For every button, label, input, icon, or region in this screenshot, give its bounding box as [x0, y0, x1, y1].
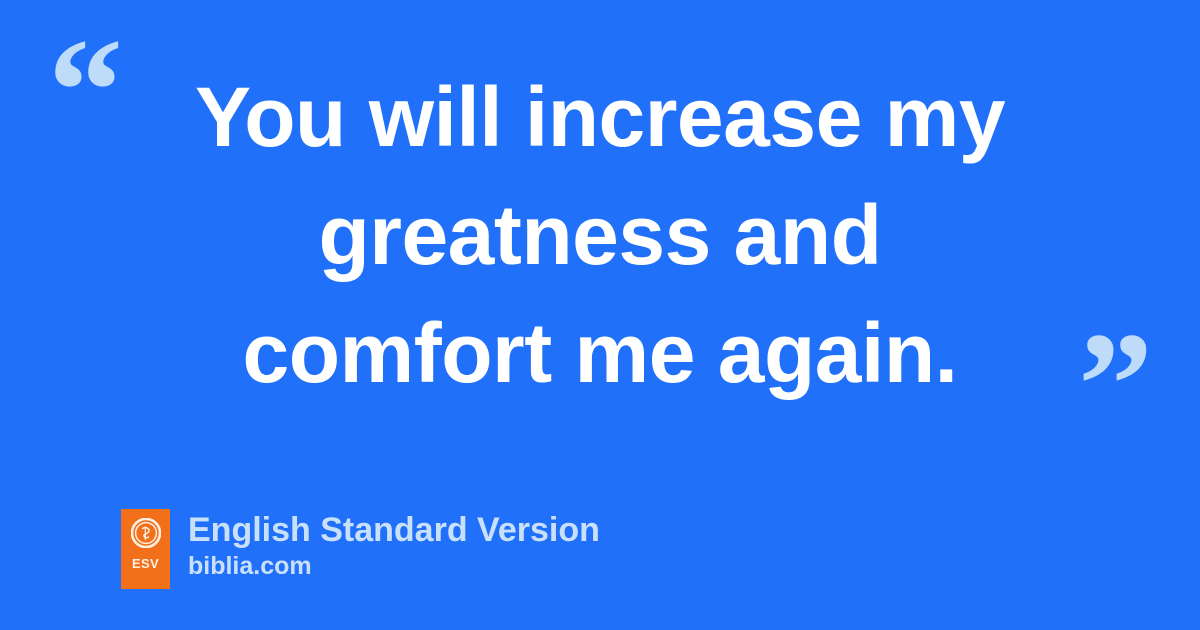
close-quote-icon: ”: [1078, 310, 1153, 460]
esv-logo-badge[interactable]: ESV: [121, 509, 170, 589]
bible-version-name: English Standard Version: [188, 510, 600, 551]
quote-line-3: comfort me again.: [120, 294, 1080, 412]
quote-card: “ You will increase my greatness and com…: [0, 0, 1200, 630]
attribution-text: English Standard Version biblia.com: [188, 509, 600, 581]
esv-seal-icon: [131, 518, 161, 548]
open-quote-icon: “: [48, 16, 123, 166]
quote-text-block: You will increase my greatness and comfo…: [120, 58, 1080, 412]
quote-line-2: greatness and: [120, 176, 1080, 294]
attribution[interactable]: ESV English Standard Version biblia.com: [121, 509, 600, 589]
site-name-link[interactable]: biblia.com: [188, 551, 600, 581]
esv-badge-label: ESV: [132, 557, 159, 570]
quote-line-1: You will increase my: [120, 58, 1080, 176]
